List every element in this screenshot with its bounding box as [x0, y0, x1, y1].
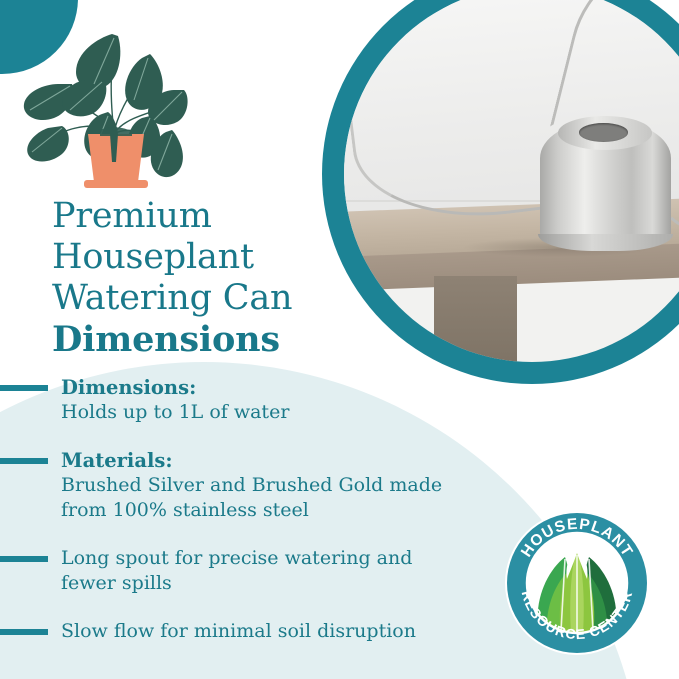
list-item-body: Brushed Silver and Brushed Gold made fro… — [61, 474, 442, 521]
headline-line-1: Premium — [52, 196, 352, 237]
feature-list: Dimensions: Holds up to 1L of water Mate… — [0, 374, 470, 666]
infographic-canvas: Premium Houseplant Watering Can Dimensio… — [0, 0, 679, 679]
dash-bullet-icon — [0, 385, 48, 391]
list-item-body: Slow flow for minimal soil disruption — [61, 620, 416, 642]
list-item-text: Long spout for precise watering and fewe… — [61, 545, 470, 596]
list-item-body: Holds up to 1L of water — [61, 401, 289, 423]
list-item-body: Long spout for precise watering and fewe… — [61, 547, 412, 594]
list-item: Slow flow for minimal soil disruption — [0, 618, 470, 644]
dash-bullet-icon — [0, 556, 48, 562]
product-photo — [344, 0, 679, 362]
watering-can-opening — [579, 123, 628, 142]
list-item-text: Dimensions: Holds up to 1L of water — [61, 374, 289, 425]
list-item-label: Materials: — [61, 448, 470, 473]
headline-line-3: Watering Can — [52, 278, 352, 319]
dash-bullet-icon — [0, 629, 48, 635]
headline-line-4: Dimensions — [52, 319, 352, 360]
dash-bullet-icon — [0, 458, 48, 464]
list-item-text: Slow flow for minimal soil disruption — [61, 618, 416, 644]
page-title: Premium Houseplant Watering Can Dimensio… — [52, 196, 352, 360]
list-item: Dimensions: Holds up to 1L of water — [0, 374, 470, 425]
list-item-text: Materials: Brushed Silver and Brushed Go… — [61, 447, 470, 523]
list-item: Long spout for precise watering and fewe… — [0, 545, 470, 596]
list-item-label: Dimensions: — [61, 375, 289, 400]
photo-table-leg — [434, 276, 517, 362]
headline-line-2: Houseplant — [52, 237, 352, 278]
houseplant-illustration — [14, 22, 214, 198]
list-item: Materials: Brushed Silver and Brushed Go… — [0, 447, 470, 523]
brand-logo: HOUSEPLANT RESOURCE CENTER — [503, 509, 651, 657]
